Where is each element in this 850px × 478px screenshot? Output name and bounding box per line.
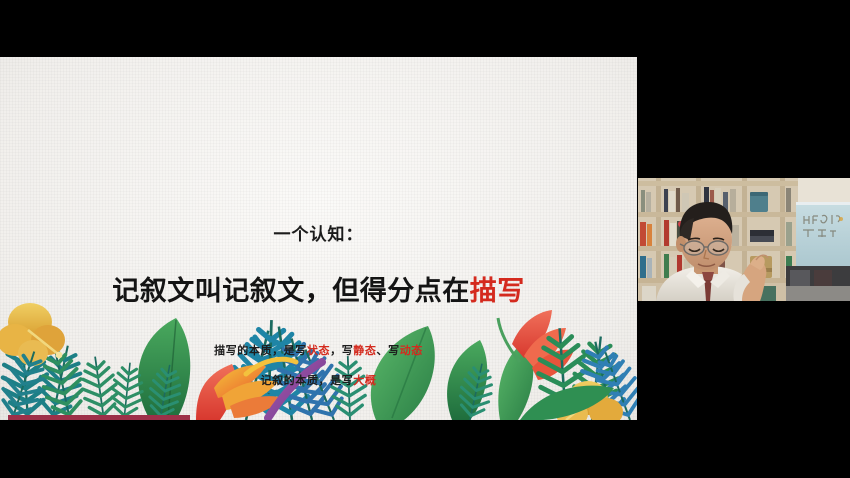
webcam-video-frame (638, 178, 850, 301)
presentation-slide: 第一节课 一个认知： 记叙文叫记叙文，但得分点在描写 描写的本质，是写状态，写静… (0, 57, 637, 420)
slide-subline-1: 描写的本质，是写状态，写静态、写动态 (0, 342, 637, 358)
slide-subline-2: 记叙的本质，是写大概 (0, 372, 637, 388)
subline-2-seg-1: 大概 (353, 374, 376, 387)
letterbox-bottom (0, 420, 850, 478)
slide-kicker: 一个认知： (0, 220, 637, 245)
subline-1-seg-0: 描写的本质，是写 (214, 344, 307, 357)
letterbox-top (0, 0, 850, 57)
headline-plain: 记叙文叫记叙文，但得分点在 (112, 276, 470, 307)
subline-1-seg-3: 静态 (353, 344, 376, 357)
subline-2-seg-0: 记叙的本质，是写 (260, 374, 353, 387)
subline-1-seg-5: 动态 (400, 344, 423, 357)
headline-highlight: 描写 (470, 276, 525, 307)
video-player-stage: 第一节课 一个认知： 记叙文叫记叙文，但得分点在描写 描写的本质，是写状态，写静… (0, 0, 850, 478)
subline-1-seg-1: 状态 (307, 344, 330, 357)
instructor-webcam[interactable] (638, 178, 850, 301)
slide-text-layer: 一个认知： 记叙文叫记叙文，但得分点在描写 描写的本质，是写状态，写静态、写动态… (0, 57, 637, 420)
slide-headline: 记叙文叫记叙文，但得分点在描写 (0, 269, 637, 308)
subline-1-seg-4: 、写 (377, 344, 400, 357)
subline-1-seg-2: ，写 (330, 344, 353, 357)
